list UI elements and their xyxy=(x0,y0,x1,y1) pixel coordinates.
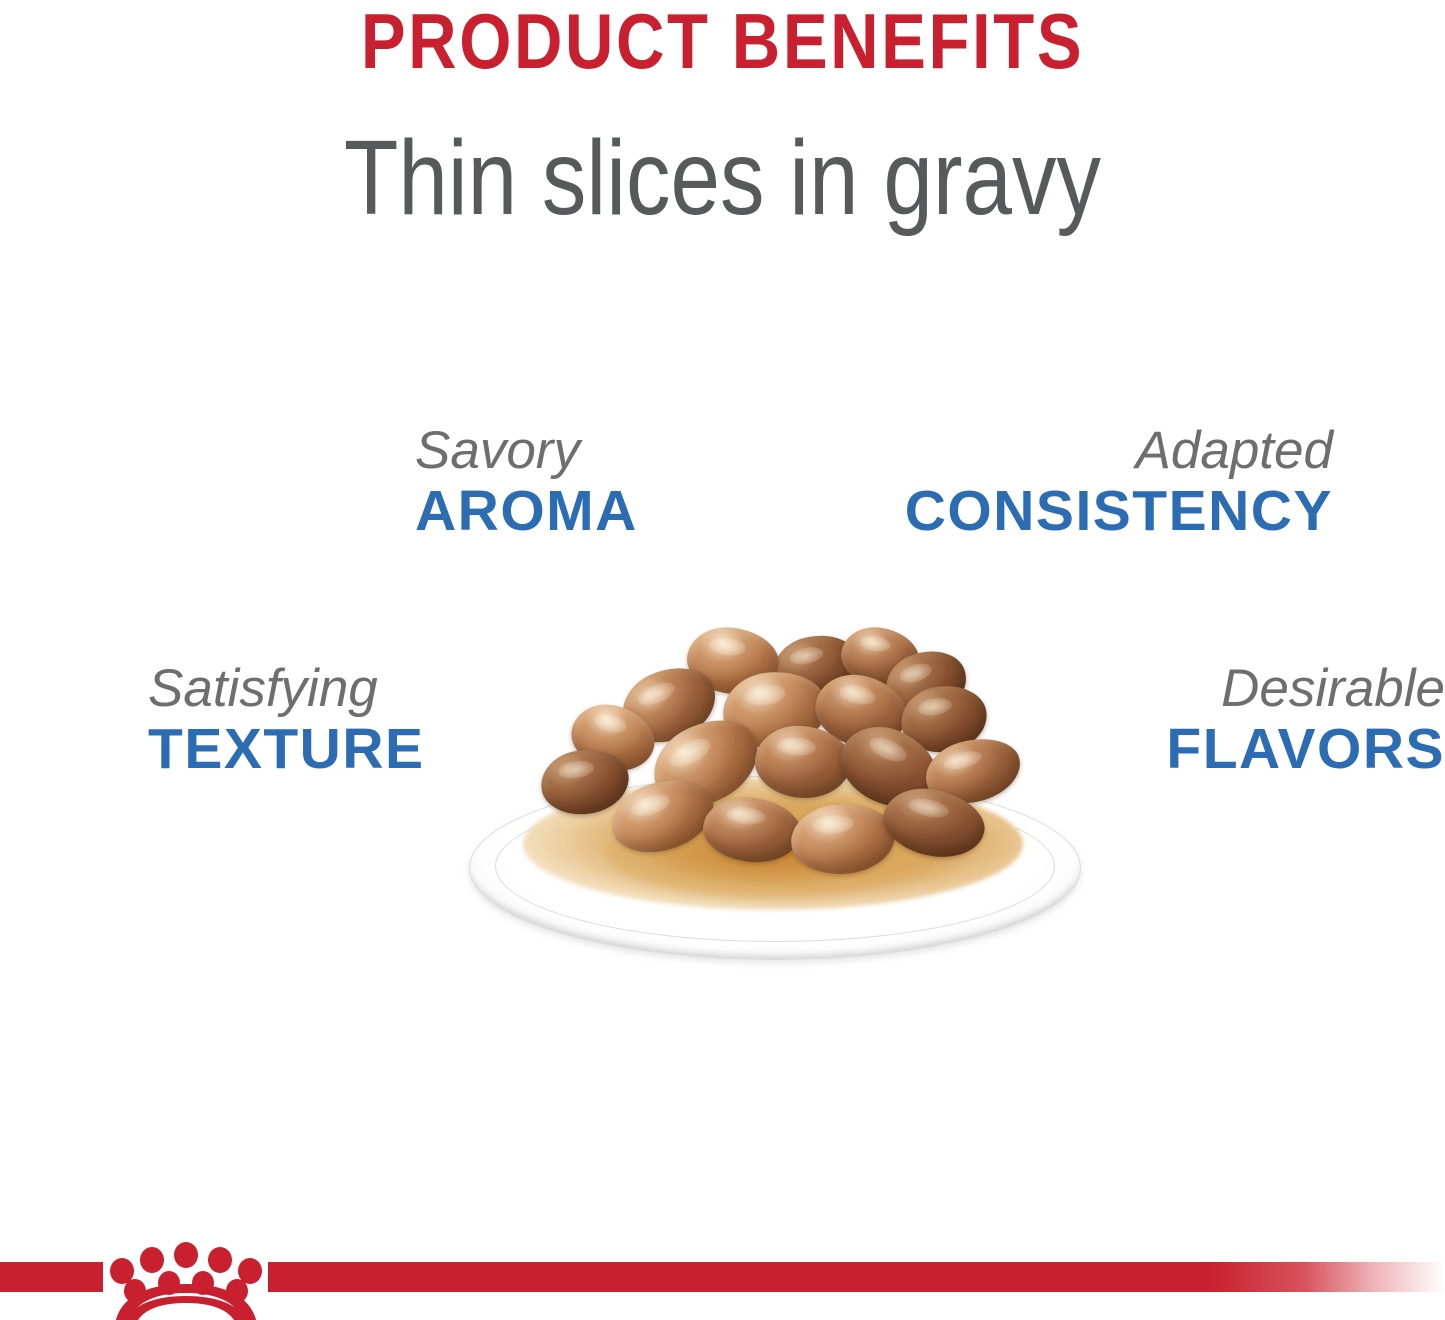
benefit-label-consistency: Adapted CONSISTENCY xyxy=(905,424,1333,540)
benefit-label-aroma: Savory AROMA xyxy=(415,424,638,540)
product-food-image xyxy=(455,600,1095,970)
brand-bar-right-segment xyxy=(268,1262,1445,1292)
benefit-label-texture: Satisfying TEXTURE xyxy=(148,662,425,778)
benefit-adjective: Adapted xyxy=(905,424,1333,478)
benefit-label-flavors: Desirable FLAVORS xyxy=(1166,662,1445,778)
product-benefits-panel: PRODUCT BENEFITS Thin slices in gravy Sa… xyxy=(0,0,1445,1320)
benefit-noun: TEXTURE xyxy=(148,720,425,778)
page-subtitle: Thin slices in gravy xyxy=(116,125,1330,231)
benefit-adjective: Satisfying xyxy=(148,662,425,716)
royal-canin-crown-icon xyxy=(100,1238,272,1320)
page-title: PRODUCT BENEFITS xyxy=(101,2,1344,80)
benefit-noun: CONSISTENCY xyxy=(905,482,1333,540)
benefit-adjective: Savory xyxy=(415,424,638,478)
benefit-noun: FLAVORS xyxy=(1166,720,1445,778)
benefit-adjective: Desirable xyxy=(1166,662,1445,716)
brand-bar-left-segment xyxy=(0,1262,103,1292)
benefit-noun: AROMA xyxy=(415,482,638,540)
